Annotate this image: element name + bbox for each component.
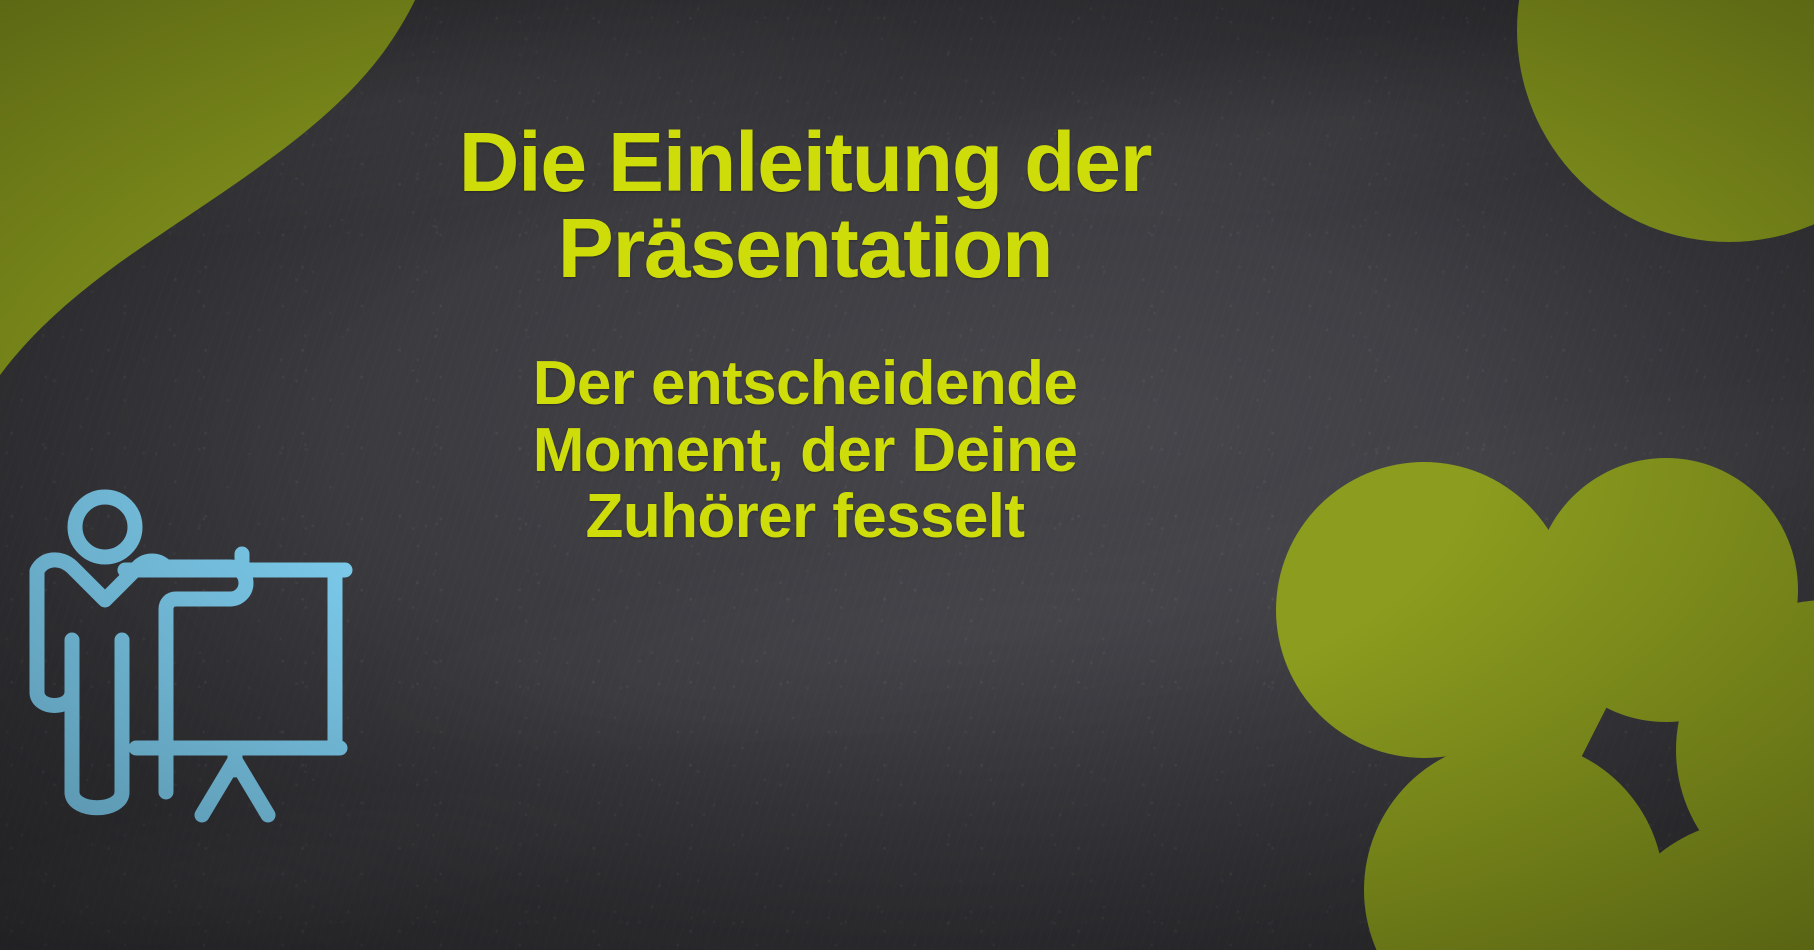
subtitle-line-2: Moment, der Deine [330,418,1280,484]
subtitle-line-3: Zuhörer fesselt [330,484,1280,550]
page-title: Die Einleitung der Präsentation [330,120,1280,291]
presenter-head-icon [75,497,135,557]
subtitle-line-1: Der entscheidende [330,351,1280,417]
slide-text-block: Die Einleitung der Präsentation Der ents… [330,120,1280,550]
presenter-feet-icon [72,792,122,808]
whiteboard-easel-legs-icon [190,748,268,815]
presenter-at-whiteboard-icon [10,470,370,830]
slide-subtitle: Der entscheidende Moment, der Deine Zuhö… [330,351,1280,550]
presentation-slide: Die Einleitung der Präsentation Der ents… [0,0,1814,950]
presenter-arm-bottom-icon [37,692,72,706]
